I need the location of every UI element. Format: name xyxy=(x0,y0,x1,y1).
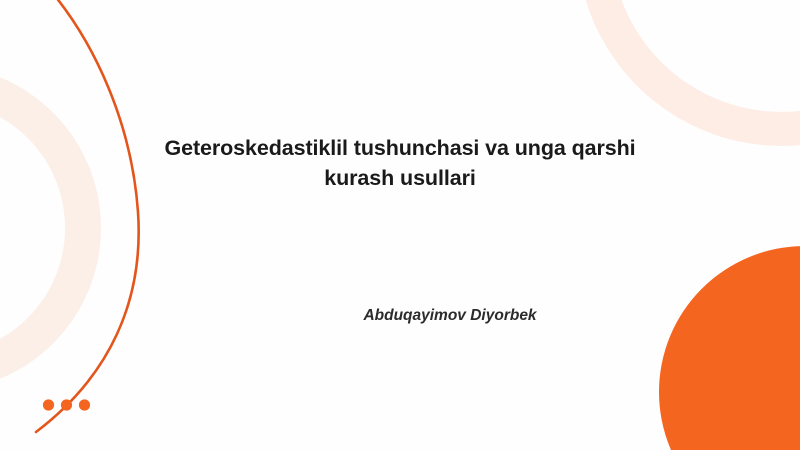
slide-content: Geteroskedastiklil tushunchasi va unga q… xyxy=(0,0,800,450)
title-slide: Geteroskedastiklil tushunchasi va unga q… xyxy=(0,0,800,450)
page-title: Geteroskedastiklil tushunchasi va unga q… xyxy=(150,134,650,193)
author-name: Abduqayimov Diyorbek xyxy=(250,306,650,326)
